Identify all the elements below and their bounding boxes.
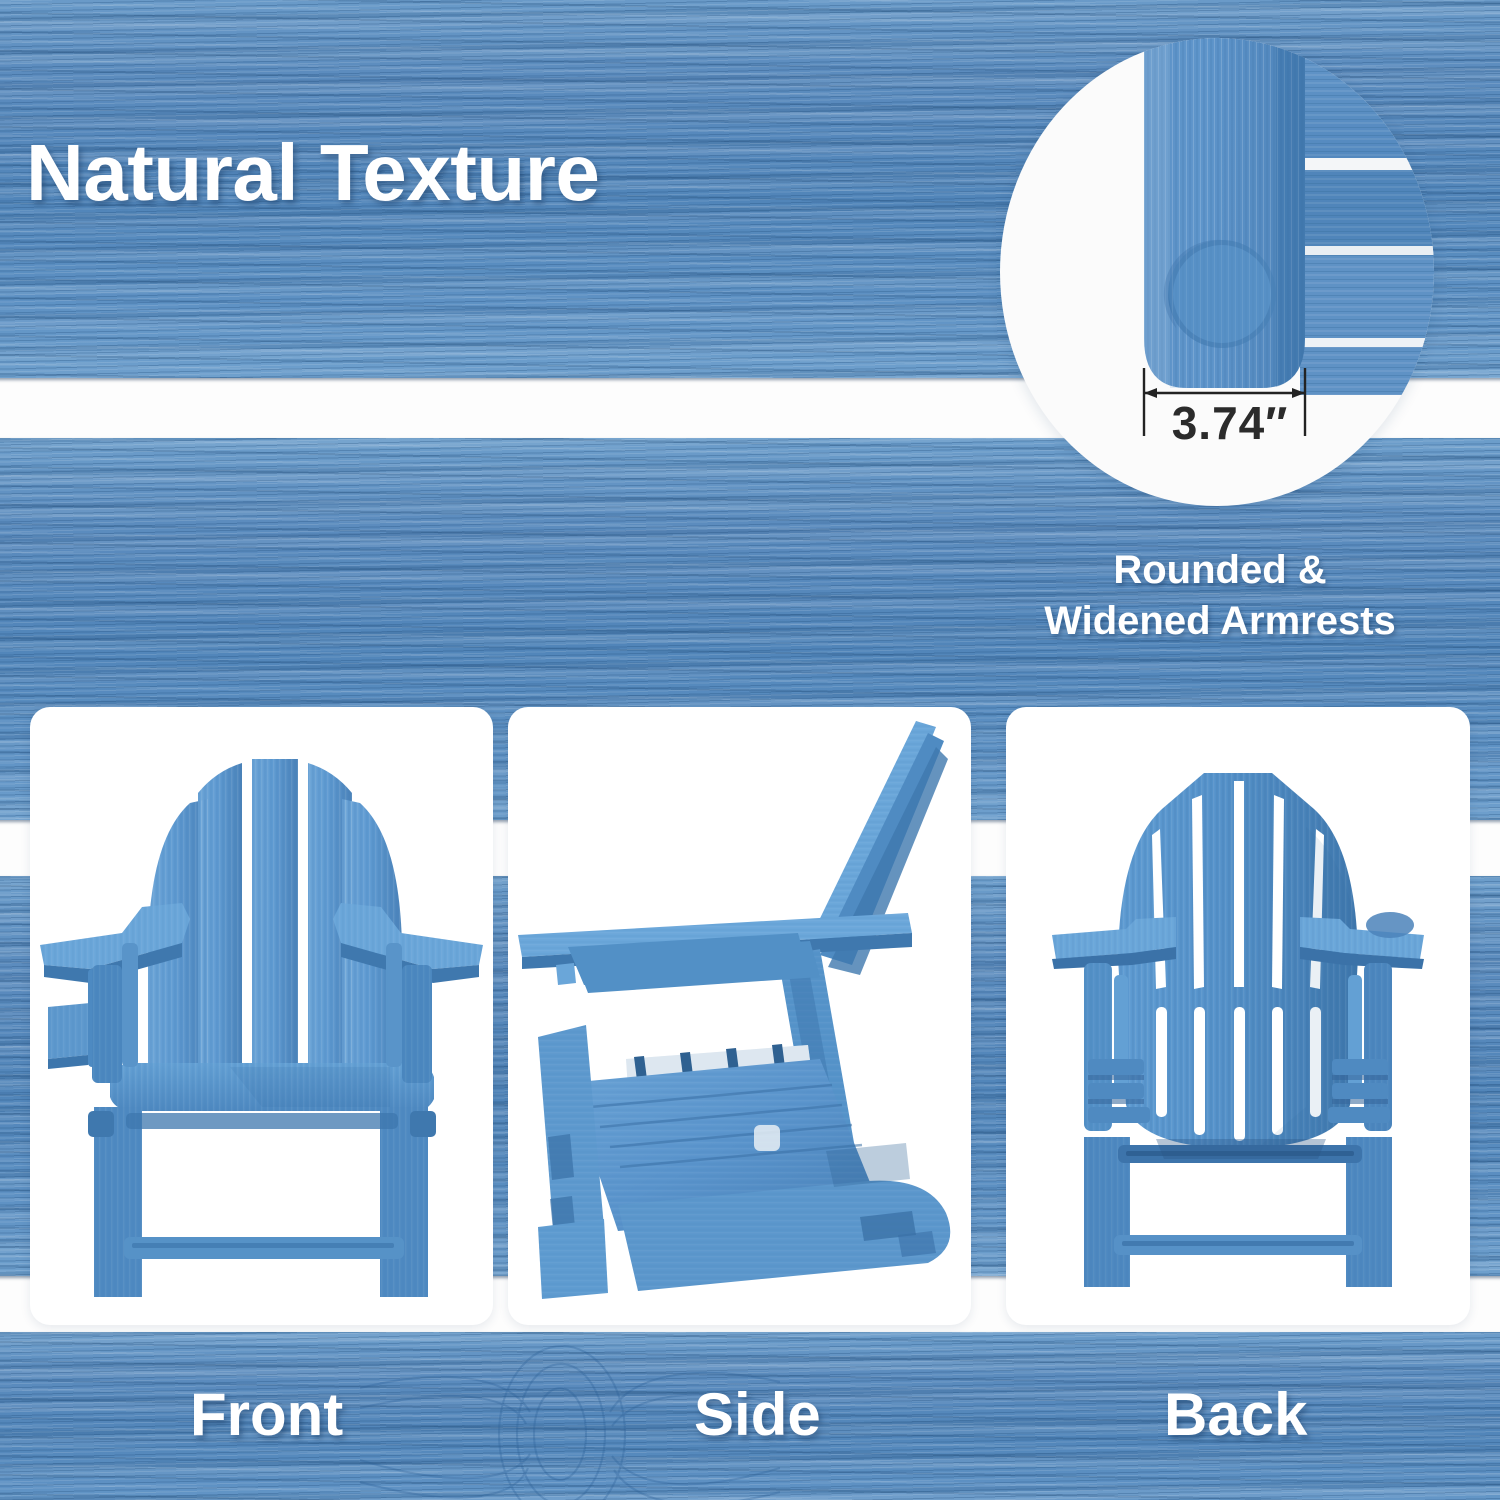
- callout-caption: Rounded & Widened Armrests: [1010, 545, 1430, 647]
- dimension-label: 3.74″: [1150, 396, 1310, 450]
- chair-front-illustration: [30, 707, 493, 1325]
- view-label-front: Front: [190, 1380, 343, 1449]
- callout-caption-line1: Rounded &: [1010, 545, 1430, 596]
- view-label-back: Back: [1164, 1380, 1307, 1449]
- view-label-side: Side: [694, 1380, 821, 1449]
- callout-caption-line2: Widened Armrests: [1010, 596, 1430, 647]
- chair-side-illustration: [508, 707, 971, 1325]
- view-card-front: [30, 707, 493, 1325]
- product-feature-graphic: Natural Texture: [0, 0, 1500, 1500]
- chair-back-illustration: [1006, 707, 1470, 1325]
- view-card-side: [508, 707, 971, 1325]
- page-title: Natural Texture: [26, 133, 599, 213]
- view-card-back: [1006, 707, 1470, 1325]
- background-board: [1300, 38, 1434, 395]
- armrest-slab: [1144, 38, 1305, 388]
